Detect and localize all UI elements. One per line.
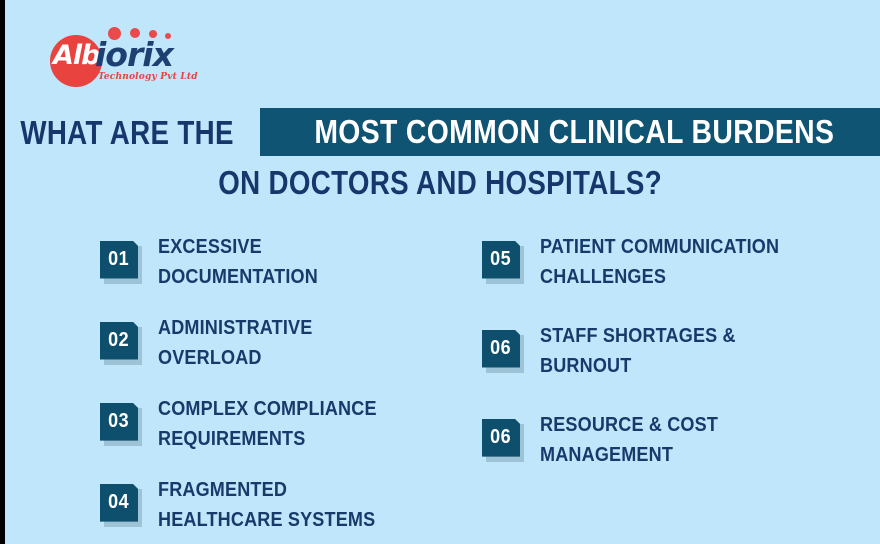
list-item-label: FRAGMENTED HEALTHCARE SYSTEMS bbox=[158, 475, 406, 534]
burden-list-right: 05 PATIENT COMMUNICATION CHALLENGES 06 S… bbox=[482, 232, 822, 499]
title-line-2: ON DOCTORS AND HOSPITALS? bbox=[0, 166, 880, 199]
title-highlight-text: MOST COMMON CLINICAL BURDENS bbox=[314, 115, 834, 148]
list-item-label: COMPLEX COMPLIANCE REQUIREMENTS bbox=[158, 394, 406, 453]
list-item-label: RESOURCE & COST MANAGEMENT bbox=[540, 410, 788, 469]
list-item[interactable]: 06 RESOURCE & COST MANAGEMENT bbox=[482, 410, 822, 469]
list-item-label: STAFF SHORTAGES & BURNOUT bbox=[540, 321, 788, 380]
badge-box: 04 bbox=[100, 484, 138, 522]
badge-number: 02 bbox=[109, 329, 130, 352]
number-badge: 01 bbox=[100, 241, 142, 283]
number-badge: 03 bbox=[100, 403, 142, 445]
badge-number: 01 bbox=[109, 248, 130, 271]
title-prefix: WHAT ARE THE bbox=[20, 116, 233, 149]
badge-box: 03 bbox=[100, 403, 138, 441]
badge-box: 01 bbox=[100, 241, 138, 279]
list-item-label: EXCESSIVE DOCUMENTATION bbox=[158, 232, 406, 291]
list-item[interactable]: 04 FRAGMENTED HEALTHCARE SYSTEMS bbox=[100, 475, 440, 534]
number-badge: 02 bbox=[100, 322, 142, 364]
badge-number: 06 bbox=[491, 426, 512, 449]
logo-mark-text: Alb bbox=[53, 42, 99, 69]
list-item[interactable]: 01 EXCESSIVE DOCUMENTATION bbox=[100, 232, 440, 291]
list-item[interactable]: 05 PATIENT COMMUNICATION CHALLENGES bbox=[482, 232, 822, 291]
badge-box: 02 bbox=[100, 322, 138, 360]
badge-number: 03 bbox=[109, 410, 130, 433]
badge-number: 06 bbox=[491, 337, 512, 360]
company-logo[interactable]: Alb iorix Technology Pvt Ltd bbox=[48, 20, 178, 88]
number-badge: 05 bbox=[482, 241, 524, 283]
list-item-label: PATIENT COMMUNICATION CHALLENGES bbox=[540, 232, 788, 291]
badge-box: 06 bbox=[482, 419, 520, 457]
number-badge: 04 bbox=[100, 484, 142, 526]
number-badge: 06 bbox=[482, 330, 524, 372]
badge-number: 04 bbox=[109, 491, 130, 514]
badge-box: 05 bbox=[482, 241, 520, 279]
badge-box: 06 bbox=[482, 330, 520, 368]
list-item-label: ADMINISTRATIVE OVERLOAD bbox=[158, 313, 406, 372]
badge-number: 05 bbox=[491, 248, 512, 271]
letterbox-edge bbox=[0, 0, 5, 544]
burden-list-left: 01 EXCESSIVE DOCUMENTATION 02 ADMINISTRA… bbox=[100, 232, 440, 544]
list-item[interactable]: 06 STAFF SHORTAGES & BURNOUT bbox=[482, 321, 822, 380]
number-badge: 06 bbox=[482, 419, 524, 461]
page-title: WHAT ARE THEMOST COMMON CLINICAL BURDENS… bbox=[0, 108, 880, 199]
infographic-canvas: Alb iorix Technology Pvt Ltd WHAT ARE TH… bbox=[0, 0, 880, 544]
logo-brand-text: iorix bbox=[95, 38, 173, 71]
list-item[interactable]: 03 COMPLEX COMPLIANCE REQUIREMENTS bbox=[100, 394, 440, 453]
list-item[interactable]: 02 ADMINISTRATIVE OVERLOAD bbox=[100, 313, 440, 372]
title-highlight-box: MOST COMMON CLINICAL BURDENS bbox=[260, 108, 880, 156]
title-line-1: WHAT ARE THEMOST COMMON CLINICAL BURDENS bbox=[0, 108, 880, 156]
title-subline: ON DOCTORS AND HOSPITALS? bbox=[218, 166, 662, 199]
